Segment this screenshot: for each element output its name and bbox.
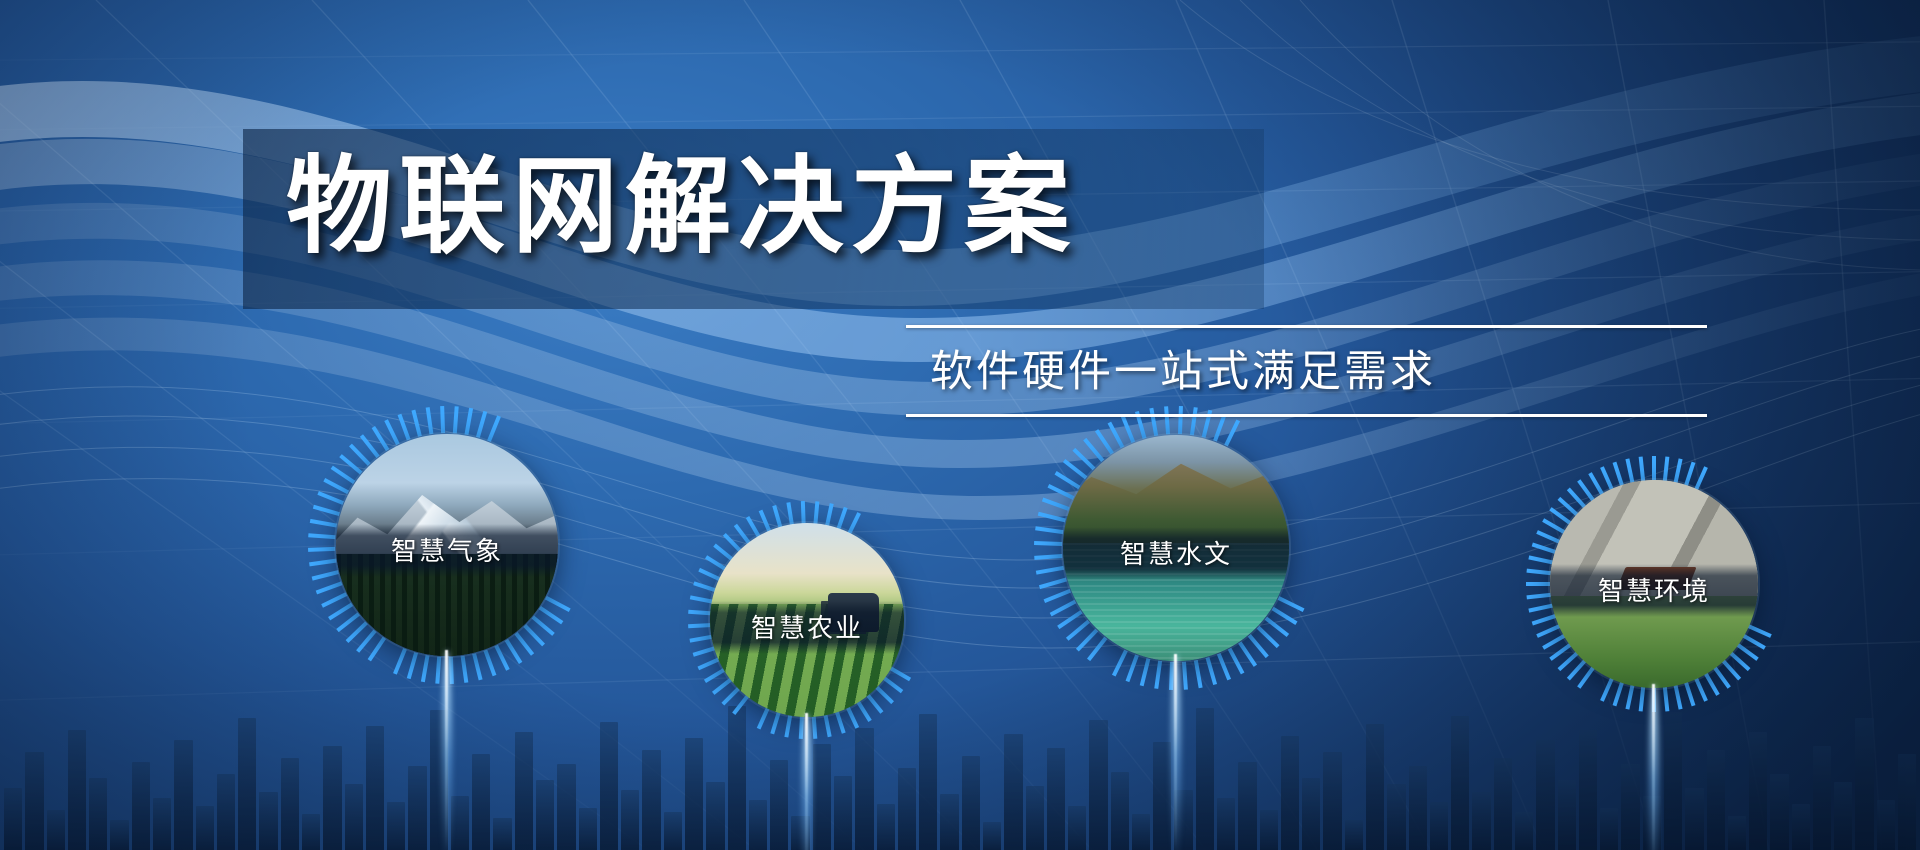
page-subtitle: 软件硬件一站式满足需求 <box>930 338 1436 406</box>
light-beam-core <box>445 650 448 850</box>
node-photo-smart-environment[interactable]: 智慧环境 <box>1550 480 1758 688</box>
subtitle-rule-bottom <box>906 414 1707 417</box>
light-beam-core <box>1174 654 1177 850</box>
vignette-overlay <box>0 0 1920 850</box>
light-beam-core <box>805 713 808 850</box>
light-beam-core <box>1652 684 1655 850</box>
subtitle-rule-top <box>906 325 1707 328</box>
node-label-smart-hydrology: 智慧水文 <box>1063 527 1289 580</box>
node-photo-smart-agriculture[interactable]: 智慧农业 <box>710 523 904 717</box>
node-label-smart-agriculture: 智慧农业 <box>710 601 904 654</box>
page-title: 物联网解决方案 <box>286 144 1077 271</box>
node-label-smart-environment: 智慧环境 <box>1550 564 1758 617</box>
node-photo-smart-hydrology[interactable]: 智慧水文 <box>1063 435 1289 661</box>
node-photo-smart-meteorology[interactable]: 智慧气象 <box>336 434 558 656</box>
node-label-smart-meteorology: 智慧气象 <box>336 524 558 577</box>
iot-solution-banner: 智慧气象 <box>0 0 1920 850</box>
